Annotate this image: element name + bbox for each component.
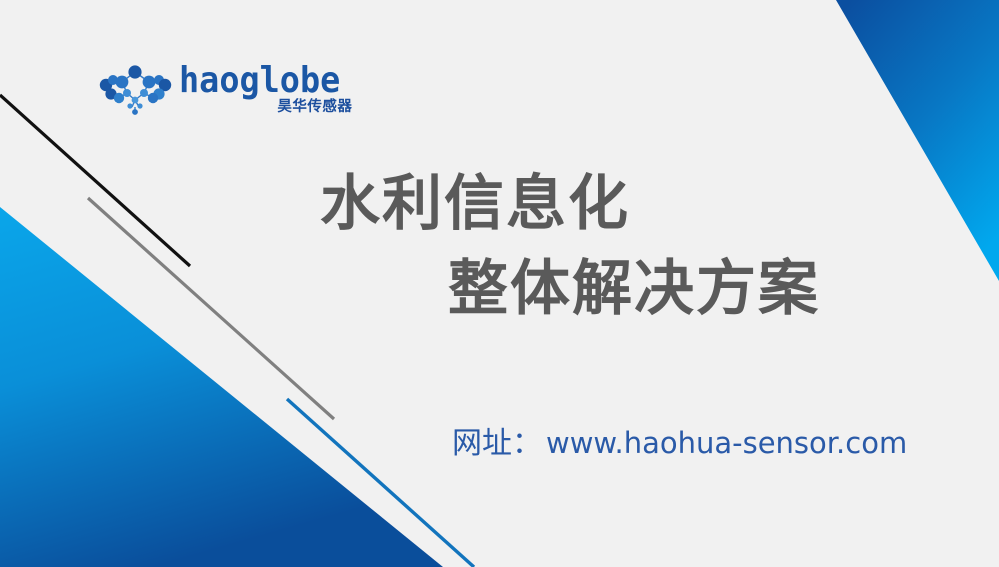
website-url[interactable]: www.haohua-sensor.com <box>546 426 907 460</box>
logo-wordmark: haoglobe <box>179 64 340 98</box>
website-label: 网址： <box>452 418 542 462</box>
haoglobe-molecule-logo-icon <box>97 60 173 120</box>
logo-subtitle: 昊华传感器 <box>277 100 352 116</box>
title-line-2: 整体解决方案 <box>0 247 880 332</box>
logo-text-group: haoglobe 昊华传感器 <box>179 60 352 120</box>
slide-canvas: haoglobe 昊华传感器 水利信息化 整体解决方案 网址： www.haoh… <box>0 0 999 567</box>
company-logo: haoglobe 昊华传感器 <box>97 57 312 123</box>
slide-title: 水利信息化 整体解决方案 <box>0 162 880 332</box>
website-row: 网址： www.haohua-sensor.com <box>452 418 907 462</box>
title-line-1: 水利信息化 <box>0 162 880 247</box>
